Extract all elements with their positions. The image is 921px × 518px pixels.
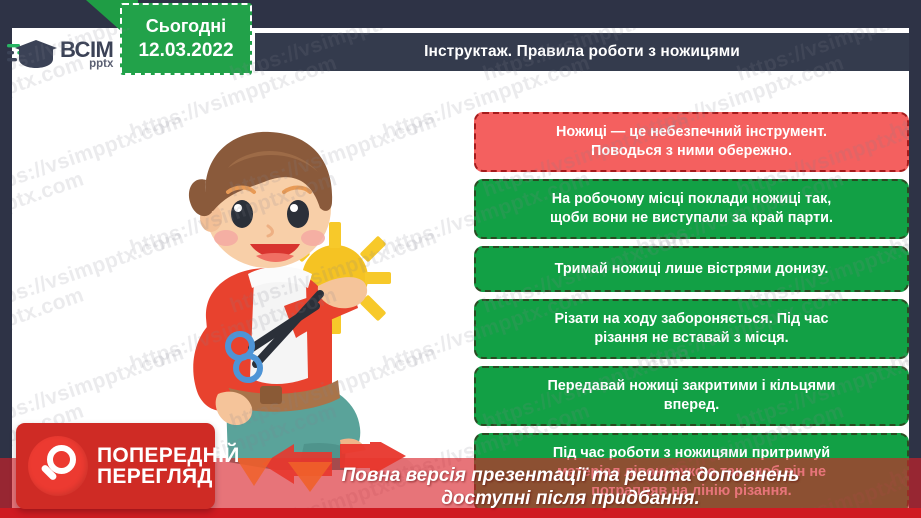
watermark-text: https://vsimpptx.com bbox=[634, 28, 847, 29]
preview-badge[interactable]: ПОПЕРЕДНІЙ ПЕРЕГЛЯД bbox=[16, 423, 215, 509]
rule-item-2: Тримай ножиці лише вістрями донизу. bbox=[474, 246, 909, 292]
page-title: Інструктаж. Правила роботи з ножицями bbox=[424, 43, 740, 61]
preview-line: ПЕРЕГЛЯД bbox=[97, 466, 240, 487]
overlay-line: Повна версія презентації та решта доповн… bbox=[230, 464, 911, 487]
watermark-text: https://vsimpptx.com bbox=[12, 283, 87, 376]
date-badge: Сьогодні 12.03.2022 bbox=[120, 3, 252, 75]
watermark-text: https://vsimpptx.com bbox=[887, 28, 909, 29]
rule-item-1: На робочому місці поклади ножиці так, що… bbox=[474, 179, 909, 239]
illustration-boy-cutting-sun bbox=[108, 110, 458, 470]
rule-line: Передавай ножиці закритими і кільцями bbox=[547, 377, 835, 396]
rule-line: Поводься з ними обережно. bbox=[591, 142, 792, 161]
rule-item-4: Передавай ножиці закритими і кільцями вп… bbox=[474, 366, 909, 426]
slide-header-bar: Інструктаж. Правила роботи з ножицями bbox=[255, 33, 909, 71]
rule-item-3: Різати на ходу забороняється. Під час рі… bbox=[474, 299, 909, 359]
preview-line: ПОПЕРЕДНІЙ bbox=[97, 445, 240, 466]
brand-wordmark: ВСІМ pptx bbox=[60, 39, 113, 71]
slide-canvas: Ножиці — це небезпечний інструмент. Пово… bbox=[0, 0, 921, 518]
purchase-overlay-text: Повна версія презентації та решта доповн… bbox=[230, 464, 911, 510]
rule-line: різання не вставай з місця. bbox=[594, 329, 788, 348]
preview-badge-label: ПОПЕРЕДНІЙ ПЕРЕГЛЯД bbox=[97, 445, 240, 488]
rule-line: Тримай ножиці лише вістрями донизу. bbox=[555, 260, 829, 279]
rule-line: Різати на ходу забороняється. Під час bbox=[554, 310, 828, 329]
rule-item-danger: Ножиці — це небезпечний інструмент. Пово… bbox=[474, 112, 909, 172]
illustration-svg bbox=[108, 110, 458, 470]
head bbox=[189, 132, 332, 268]
watermark-row: https://vsimpptx.comhttps://vsimpptx.com… bbox=[12, 86, 909, 110]
rule-line: Ножиці — це небезпечний інструмент. bbox=[556, 123, 827, 142]
date-badge-label: Сьогодні bbox=[146, 16, 226, 37]
rule-line: вперед. bbox=[664, 396, 719, 415]
rule-line: щоби вони не виступали за край парти. bbox=[550, 209, 833, 228]
watermark-text: https://vsimpptx.com bbox=[12, 28, 87, 29]
watermark-text: https://vsimpptx.com bbox=[380, 28, 593, 29]
overlay-line: доступні після придбання. bbox=[230, 487, 911, 510]
date-badge-value: 12.03.2022 bbox=[138, 40, 233, 62]
graduation-cap-icon bbox=[6, 35, 58, 75]
brand-logo: ВСІМ pptx bbox=[6, 31, 121, 79]
watermark-text: https://vsimpptx.com bbox=[12, 167, 87, 260]
rule-line: На робочому місці поклади ножиці так, bbox=[552, 190, 832, 209]
magnifier-icon bbox=[28, 436, 88, 496]
